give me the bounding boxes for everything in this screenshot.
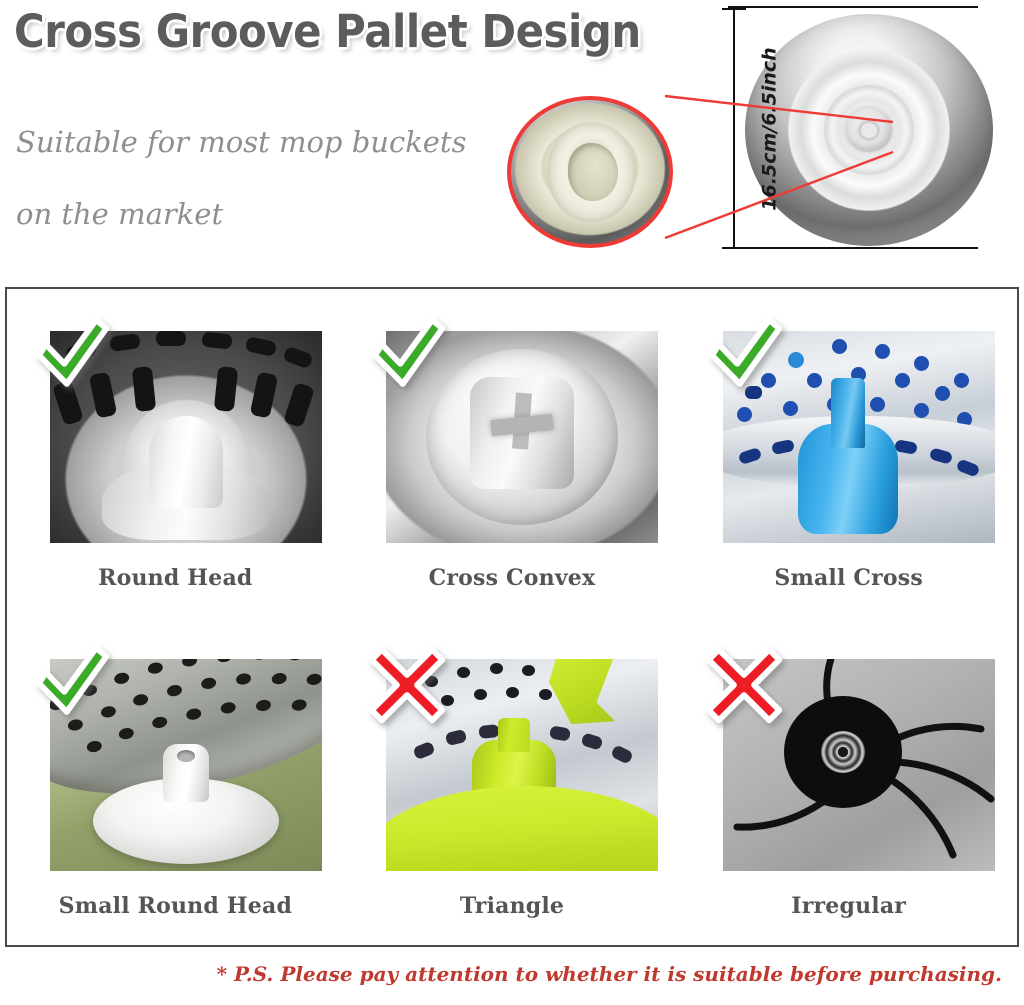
compatibility-item-triangle[interactable]: Triangle <box>344 617 681 945</box>
cross-groove-socket-closeup <box>507 96 673 248</box>
compatibility-item-round-head[interactable]: Round Head <box>7 289 344 617</box>
photo-wrapper <box>29 315 322 543</box>
compatibility-panel: Round Head Cross Convex <box>5 287 1019 947</box>
callout-leader-lines <box>0 0 1024 280</box>
photo-wrapper <box>702 315 995 543</box>
item-label: Triangle <box>460 893 564 919</box>
cross-icon <box>365 643 449 727</box>
photo-wrapper <box>702 643 995 871</box>
header-section: Cross Groove Pallet Design Suitable for … <box>0 0 1024 280</box>
item-label: Round Head <box>98 565 252 591</box>
item-label: Small Round Head <box>59 893 292 919</box>
item-label: Small Cross <box>774 565 923 591</box>
check-icon <box>365 315 449 399</box>
footer-note: * P.S. Please pay attention to whether i… <box>0 962 1014 986</box>
photo-wrapper <box>29 643 322 871</box>
compatibility-item-cross-convex[interactable]: Cross Convex <box>344 289 681 617</box>
check-icon <box>29 643 113 727</box>
item-label: Cross Convex <box>429 565 596 591</box>
socket-hole <box>568 143 619 201</box>
photo-wrapper <box>365 315 658 543</box>
check-icon <box>29 315 113 399</box>
check-icon <box>702 315 786 399</box>
compatibility-item-irregular[interactable]: Irregular <box>680 617 1017 945</box>
compatibility-item-small-round-head[interactable]: Small Round Head <box>7 617 344 945</box>
photo-wrapper <box>365 643 658 871</box>
cross-icon <box>702 643 786 727</box>
compatibility-item-small-cross[interactable]: Small Cross <box>680 289 1017 617</box>
item-label: Irregular <box>791 893 906 919</box>
compatibility-grid: Round Head Cross Convex <box>7 289 1017 945</box>
